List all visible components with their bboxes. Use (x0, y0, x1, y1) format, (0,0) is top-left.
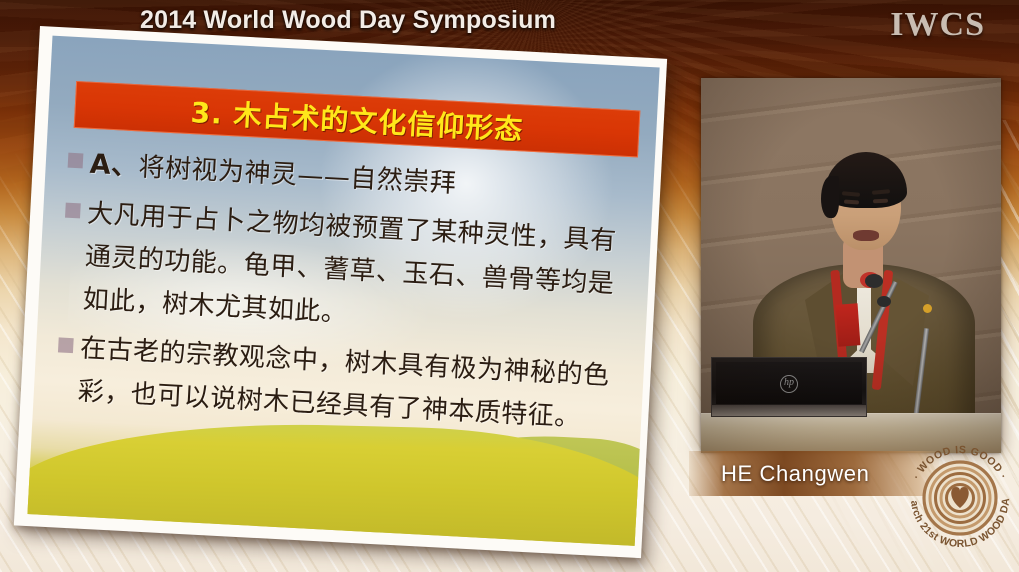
speaker-video-feed[interactable]: hp (701, 78, 1001, 453)
square-bullet-icon (58, 337, 74, 353)
square-bullet-icon (68, 153, 84, 169)
bullet-text: 大凡用于占卜之物均被预置了某种灵性，具有通灵的功能。龟甲、蓍草、玉石、兽骨等均是… (82, 193, 636, 351)
slide-canvas: 3. 木占术的文化信仰形态 A、将树视为神灵——自然崇拜 大凡用于占卜之物均被预… (27, 36, 659, 546)
presentation-screen: 2014 World Wood Day Symposium IWCS 3. 木占… (0, 0, 1019, 572)
speaker-name: HE Changwen (721, 461, 869, 487)
slide-bullet-list: A、将树视为神灵——自然崇拜 大凡用于占卜之物均被预置了某种灵性，具有通灵的功能… (54, 142, 638, 448)
list-item: 大凡用于占卜之物均被预置了某种灵性，具有通灵的功能。龟甲、蓍草、玉石、兽骨等均是… (60, 192, 636, 351)
video-vignette (701, 78, 1001, 453)
page-title: 2014 World Wood Day Symposium (140, 6, 556, 35)
slide-paper: 3. 木占术的文化信仰形态 A、将树视为神灵——自然崇拜 大凡用于占卜之物均被预… (14, 26, 667, 558)
presentation-slide: 3. 木占术的文化信仰形态 A、将树视为神灵——自然崇拜 大凡用于占卜之物均被预… (13, 26, 669, 572)
iwcs-logo: IWCS (890, 6, 985, 44)
world-wood-day-logo: · WOOD IS GOOD · March 21st WORLD WOOD D… (901, 436, 1019, 554)
square-bullet-icon (65, 203, 81, 219)
